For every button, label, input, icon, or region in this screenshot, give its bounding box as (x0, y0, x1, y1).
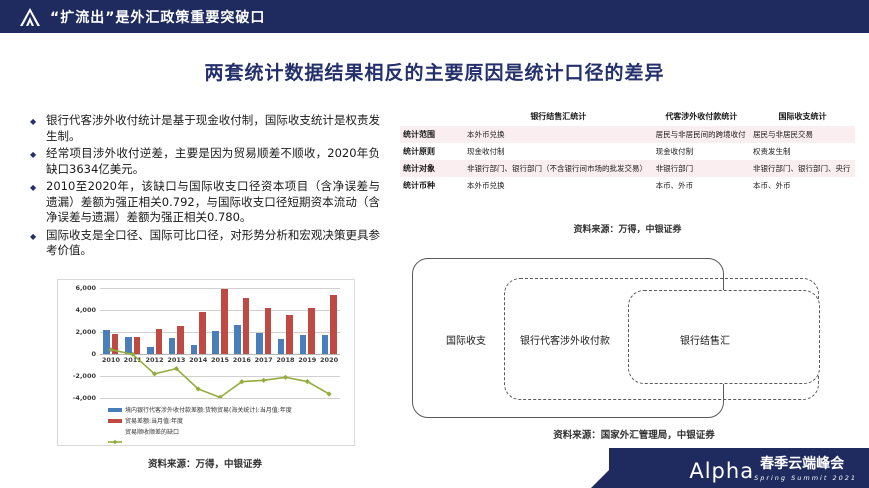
legend-color-swatch (108, 408, 122, 412)
legend-label: 贸易顺收顺差的缺口 (125, 427, 179, 436)
venn-diagram: 国际收支 银行代客涉外收付款 银行结售汇 (408, 252, 860, 424)
table-row: 统计对象 非银行部门、银行部门（不含银行间市场的批发交易） 非银行部门 非银行部… (400, 160, 855, 177)
table-row-header: 统计原则 (400, 143, 464, 160)
table-row-header: 统计币种 (400, 177, 464, 194)
table-cell: 本币、外币 (750, 177, 855, 194)
bullet-diamond-icon: ◆ (30, 146, 46, 163)
venn-source-note: 资料来源：国家外汇管理局，中银证券 (408, 427, 860, 441)
triangle-a-icon (18, 7, 42, 27)
table-col-header: 代客涉外收付款统计 (653, 108, 750, 126)
table-row-header: 统计对象 (400, 160, 464, 177)
bullet-list: ◆ 银行代客涉外收付统计是基于现金收付制，国际收支统计是权责发生制。 ◆ 经常项… (30, 113, 380, 261)
chart-legend-item: 境内银行代客涉外收付款差额:货物贸易(海关统计):当月值:年度 (108, 404, 348, 415)
chart-y-tick-label: -4,000 (56, 394, 96, 402)
venn-outer-label: 国际收支 (446, 332, 486, 347)
bullet-text: 国际收支是全口径、国际可比口径，对形势分析和宏观决策更具参考价值。 (46, 228, 380, 259)
table-row: 统计币种 本外币兑换 本币、外币 本币、外币 (400, 177, 855, 194)
chart-y-tick-label: -2,000 (56, 372, 96, 380)
list-item: ◆ 国际收支是全口径、国际可比口径，对形势分析和宏观决策更具参考价值。 (30, 228, 380, 259)
table-cell: 现金收付制 (464, 143, 653, 160)
chart-legend-item: 贸易差额:当月值:年度 (108, 415, 348, 426)
legend-label: 贸易差额:当月值:年度 (125, 416, 183, 425)
brand-name: Alpha (689, 460, 754, 482)
table-cell: 居民与非居民交易 (750, 126, 855, 143)
table-row: 统计范围 本外币兑换 居民与非居民间的跨境收付 居民与非居民交易 (400, 126, 855, 143)
table-cell: 本外币兑换 (464, 126, 653, 143)
table-cell: 权责发生制 (750, 143, 855, 160)
bullet-diamond-icon: ◆ (30, 228, 46, 245)
chart-legend: 境内银行代客涉外收付款差额:货物贸易(海关统计):当月值:年度贸易差额:当月值:… (108, 404, 348, 437)
list-item: ◆ 2010至2020年，该缺口与国际收支口径资本项目（含净误差与遗漏）差额为强… (30, 179, 380, 226)
chart-line-series (100, 288, 340, 398)
venn-middle-label: 银行代客涉外收付款 (520, 332, 610, 347)
table-cell: 居民与非居民间的跨境收付 (653, 126, 750, 143)
table-cell: 本外币兑换 (464, 177, 653, 194)
venn-inner-label: 银行结售汇 (680, 332, 730, 347)
list-item: ◆ 经常项目涉外收付逆差，主要是因为贸易顺差不顺收，2020年负缺口3634亿美… (30, 146, 380, 177)
bar-line-chart: 6,0004,0002,0000-2,000-4,000201020112012… (57, 279, 355, 446)
bullet-diamond-icon: ◆ (30, 113, 46, 130)
bullet-text: 经常项目涉外收付逆差，主要是因为贸易顺差不顺收，2020年负缺口3634亿美元。 (46, 146, 380, 177)
table-cell: 非银行部门 (653, 160, 750, 177)
comparison-table: 银行结售汇统计 代客涉外收付款统计 国际收支统计 统计范围 本外币兑换 居民与非… (400, 108, 855, 194)
bullet-text: 银行代客涉外收付统计是基于现金收付制，国际收支统计是权责发生制。 (46, 113, 380, 144)
legend-label: 境内银行代客涉外收付款差额:货物贸易(海关统计):当月值:年度 (125, 405, 292, 414)
table-col-header (400, 108, 464, 126)
brand-name-cn: 春季云端峰会 (760, 456, 857, 473)
header-bar: “扩流出”是外汇政策重要突破口 (0, 0, 869, 33)
chart-y-tick-label: 6,000 (56, 284, 96, 292)
page-title: 两套统计数据结果相反的主要原因是统计口径的差异 (0, 58, 869, 85)
bullet-diamond-icon: ◆ (30, 179, 46, 196)
list-item: ◆ 银行代客涉外收付统计是基于现金收付制，国际收支统计是权责发生制。 (30, 113, 380, 144)
chart-legend-item: 贸易顺收顺差的缺口 (108, 426, 348, 437)
chart-y-tick-label: 4,000 (56, 306, 96, 314)
chart-gridline (100, 398, 340, 399)
chart-y-tick-label: 0 (56, 350, 96, 358)
header-title: “扩流出”是外汇政策重要突破口 (50, 7, 265, 27)
table-cell: 本币、外币 (653, 177, 750, 194)
brand-tagline: Spring Summit 2021 (754, 474, 857, 482)
table-row-header: 统计范围 (400, 126, 464, 143)
chart-plot-area: 6,0004,0002,0000-2,000-4,000201020112012… (100, 288, 340, 398)
table-col-header: 银行结售汇统计 (464, 108, 653, 126)
footer-logo: Alpha 春季云端峰会 Spring Summit 2021 (689, 456, 857, 482)
table-col-header: 国际收支统计 (750, 108, 855, 126)
table-cell: 非银行部门、银行部门（不含银行间市场的批发交易） (464, 160, 653, 177)
table-header-row: 银行结售汇统计 代客涉外收付款统计 国际收支统计 (400, 108, 855, 126)
table-cell: 现金收付制 (653, 143, 750, 160)
bullet-text: 2010至2020年，该缺口与国际收支口径资本项目（含净误差与遗漏）差额为强正相… (46, 179, 380, 226)
footer: Alpha 春季云端峰会 Spring Summit 2021 (0, 448, 869, 488)
table-row: 统计原则 现金收付制 现金收付制 权责发生制 (400, 143, 855, 160)
legend-line-swatch (108, 430, 122, 434)
legend-color-swatch (108, 419, 122, 423)
table-cell: 非银行部门、银行部门、央行 (750, 160, 855, 177)
chart-y-tick-label: 2,000 (56, 328, 96, 336)
table-source-note: 资料来源：万得，中银证券 (400, 222, 855, 235)
